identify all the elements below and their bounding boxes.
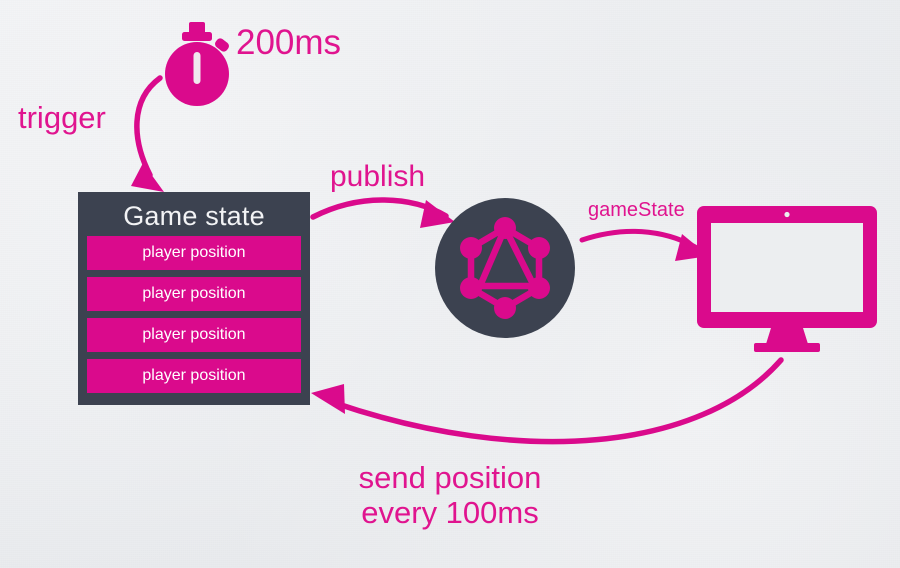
arrow-gamestate [582,231,709,261]
monitor-camera-dot [784,212,789,217]
stopwatch-crown [182,32,212,41]
monitor-screen [711,223,863,312]
player-position-row: player position [87,359,301,393]
arrow-send-position [311,360,781,442]
monitor-neck [766,328,808,344]
player-position-row: player position [87,277,301,311]
stopwatch-icon [160,22,236,108]
arrow-label-send-position: send position every 100ms [0,461,900,530]
arrow-label-gamestate: gameState [588,199,685,221]
stopwatch-hand [194,52,201,84]
arrow-label-trigger: trigger [18,101,106,136]
player-position-row: player position [87,236,301,270]
monitor-icon [694,203,880,353]
game-state-title: Game state [87,198,301,234]
timer-interval-label: 200ms [236,23,341,62]
graphql-logo-icon [435,198,575,338]
diagram-canvas: .arrowpath { fill:none; stroke:#da0a8c; … [0,0,900,568]
player-position-row: player position [87,318,301,352]
monitor-base [754,343,820,352]
send-position-line-1: send position [0,461,900,496]
game-state-panel: Game state player position player positi… [78,192,310,405]
arrow-publish [313,200,455,228]
send-position-line-2: every 100ms [0,496,900,531]
arrow-label-publish: publish [330,160,425,194]
